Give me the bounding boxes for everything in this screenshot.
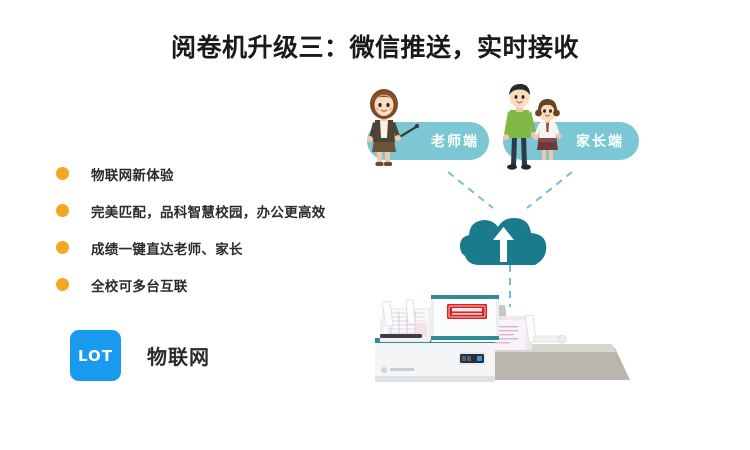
endpoint-parent-label: 家长端: [576, 133, 624, 150]
iot-badge-label: 物联网: [147, 341, 210, 370]
page-title: 阅卷机升级三：微信推送，实时接收: [0, 28, 750, 64]
slide-canvas: 阅卷机升级三：微信推送，实时接收 物联网新体验 完美匹配，品科智慧校园，办公更高…: [0, 0, 750, 450]
omr-scanner-icon: [375, 295, 630, 382]
bullet-dot-icon: [56, 241, 69, 254]
list-item-label: 成绩一键直达老师、家长: [91, 238, 243, 258]
endpoint-parent: 家长端: [503, 84, 639, 170]
list-item: 全校可多台互联: [56, 266, 356, 303]
feature-bullet-list: 物联网新体验 完美匹配，品科智慧校园，办公更高效 成绩一键直达老师、家长 全校可…: [56, 155, 356, 303]
list-item-label: 物联网新体验: [91, 164, 174, 184]
list-item: 成绩一键直达老师、家长: [56, 229, 356, 266]
endpoint-teacher: 老师端: [367, 89, 489, 166]
iot-badge: LOT: [70, 330, 121, 381]
dashed-connector-parent: [527, 172, 572, 208]
list-item: 物联网新体验: [56, 155, 356, 192]
cloud-upload-icon: [460, 218, 546, 265]
list-item-label: 全校可多台互联: [91, 275, 188, 295]
bullet-dot-icon: [56, 278, 69, 291]
endpoint-teacher-label: 老师端: [431, 133, 479, 150]
list-item-label: 完美匹配，品科智慧校园，办公更高效: [91, 201, 326, 221]
list-item: 完美匹配，品科智慧校园，办公更高效: [56, 192, 356, 229]
iot-badge-group: LOT 物联网: [70, 330, 210, 381]
iot-flow-diagram: 老师端: [360, 80, 750, 430]
bullet-dot-icon: [56, 204, 69, 217]
bullet-dot-icon: [56, 167, 69, 180]
dashed-connector-teacher: [448, 172, 493, 208]
